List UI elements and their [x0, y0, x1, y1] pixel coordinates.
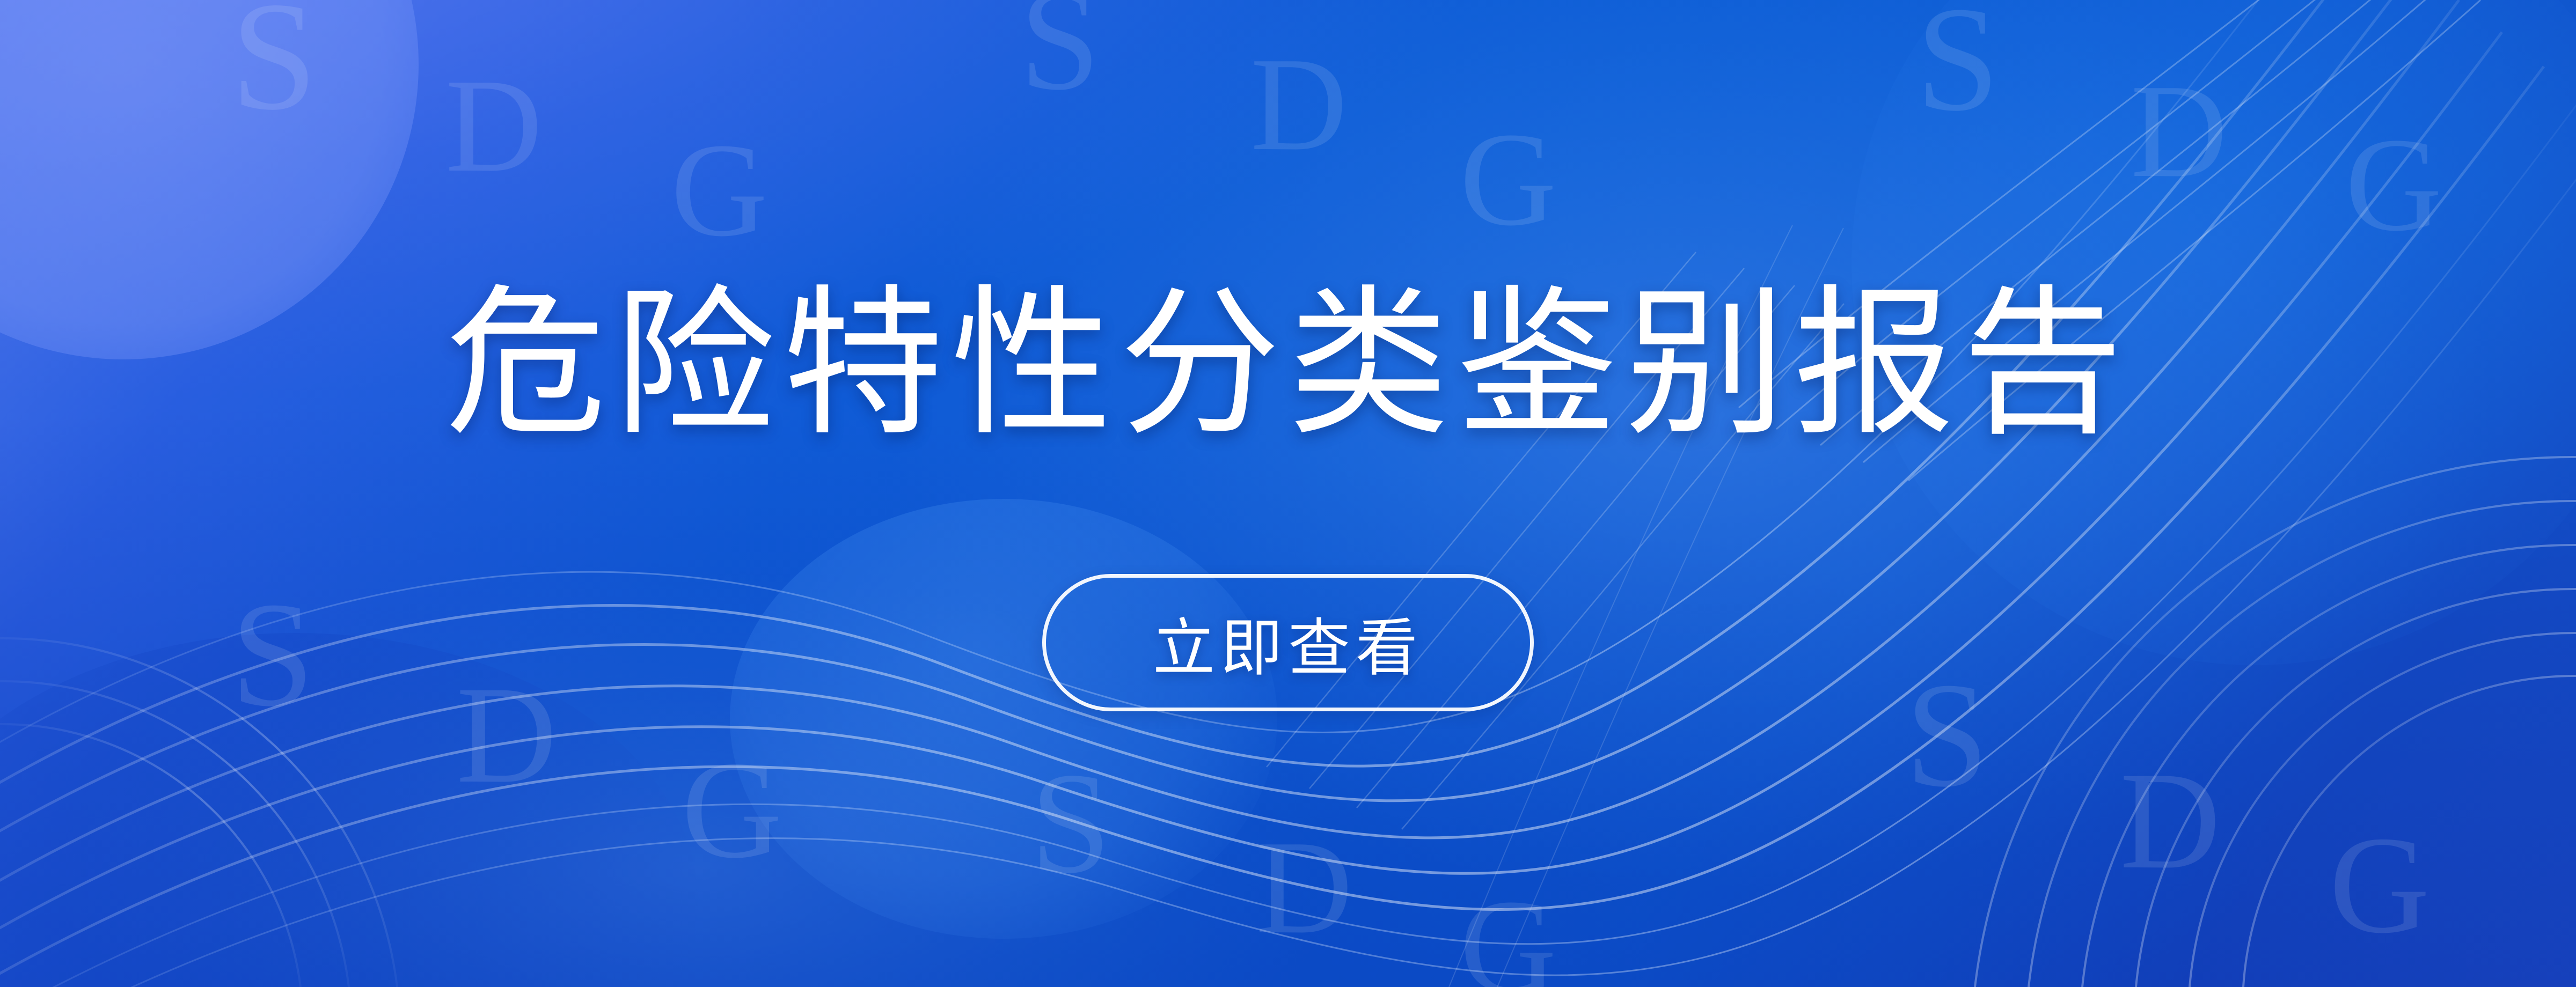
view-now-button[interactable]: 立即查看 [1042, 574, 1534, 711]
banner-content: 危险特性分类鉴别报告 立即查看 [0, 0, 2576, 987]
cta-container: 立即查看 [0, 574, 2576, 711]
banner-title: 危险特性分类鉴别报告 [0, 274, 2576, 454]
promo-banner: S D G S D G S D G S D G S D G S D G 危险特性… [0, 0, 2576, 987]
